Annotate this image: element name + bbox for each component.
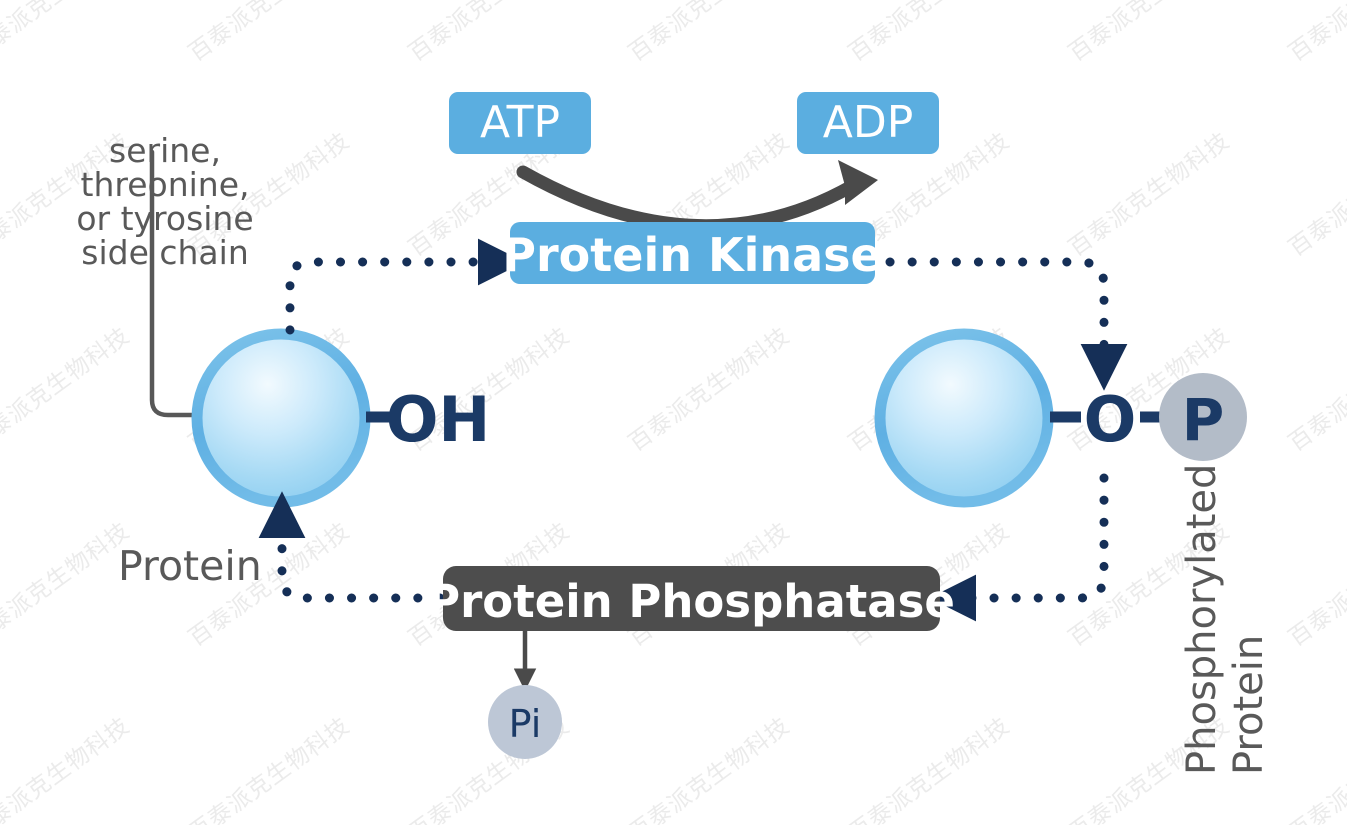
atp-to-adp-arrow <box>523 172 852 226</box>
atp-to-adp-arrowhead <box>838 160 878 205</box>
dotted-path-phosphatase-to-protein <box>282 524 440 598</box>
protein-sphere-left <box>197 334 365 502</box>
phosphorylated-protein-label-line-1: Phosphorylated <box>1179 464 1225 775</box>
protein-sphere-right <box>880 334 1048 502</box>
oxygen-label: O <box>1084 383 1137 456</box>
diagram-canvas: 百泰派克生物科技 百泰派克生物科技 百泰派克生物科技 百泰派克生物科技 百泰派克… <box>0 0 1347 825</box>
adp-label: ADP <box>823 97 914 148</box>
hydroxyl-label: OH <box>386 383 491 456</box>
dotted-path-protein-to-kinase <box>290 262 492 330</box>
atp-label: ATP <box>480 97 560 148</box>
protein-label: Protein <box>118 542 262 590</box>
phosphorylated-protein-label-line-2: Protein <box>1226 635 1272 775</box>
side-chain-label-line-4: side chain <box>81 233 248 272</box>
protein-phosphatase-label: Protein Phosphatase <box>427 575 955 628</box>
protein-kinase-label: Protein Kinase <box>502 228 882 282</box>
phosphate-label: P <box>1182 386 1225 454</box>
inorganic-phosphate-label: Pi <box>509 702 542 746</box>
